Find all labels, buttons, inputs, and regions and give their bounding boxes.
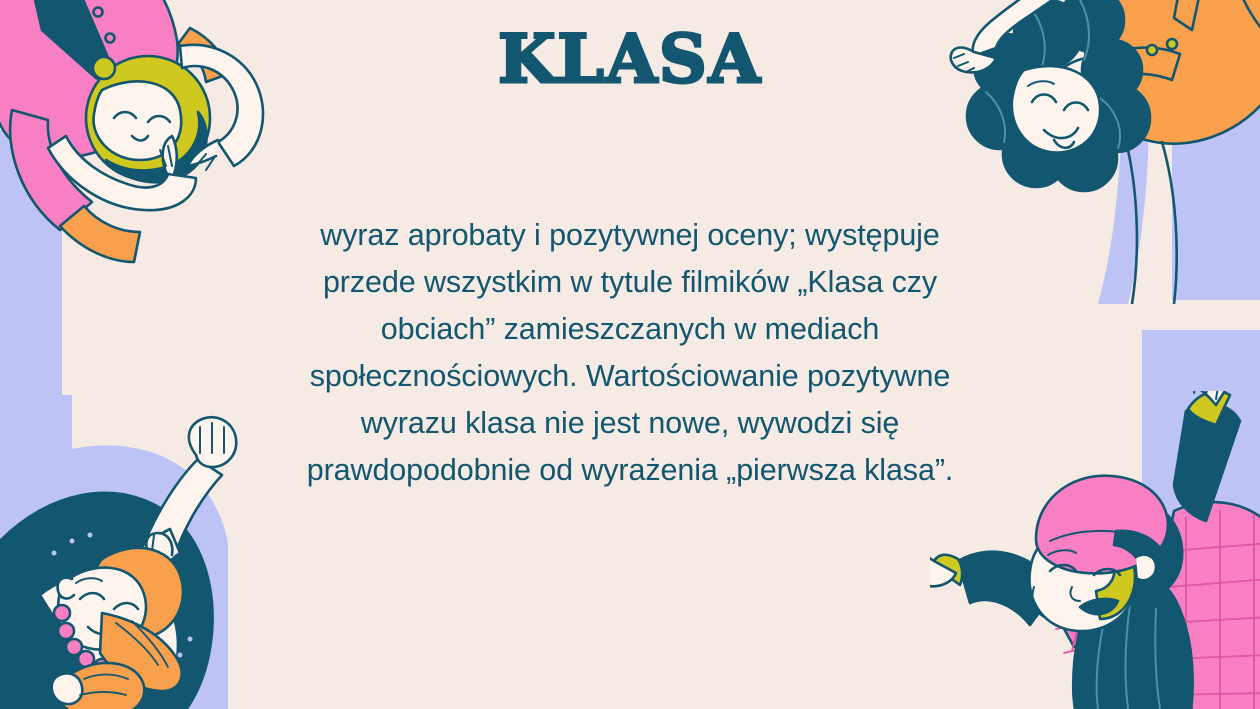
body-text-block: wyraz aprobaty i pozytywnej oceny; wystę… (212, 212, 1048, 494)
periwinkle-band-left-top (0, 130, 62, 440)
slide-canvas: KLASA wyraz aprobaty i pozytywnej oceny;… (0, 0, 1260, 709)
page-title: KLASA (498, 26, 762, 92)
body-line: wyraz aprobaty i pozytywnej oceny; wystę… (212, 212, 1048, 259)
body-line: prawdopodobnie od wyrażenia „pierwsza kl… (212, 447, 1048, 494)
body-line: wyrazu klasa nie jest nowe, wywodzi się (212, 400, 1048, 447)
body-line: przede wszystkim w tytule filmików „Klas… (212, 259, 1048, 306)
body-line: społecznościowych. Wartościowanie pozyty… (212, 353, 1048, 400)
periwinkle-band-left-bottom (0, 395, 72, 709)
body-line: obciach” zamieszczanych w mediach (212, 306, 1048, 353)
title-container: KLASA (0, 26, 1260, 92)
periwinkle-band-right-top (1172, 0, 1260, 300)
periwinkle-band-right-bottom (1142, 330, 1260, 709)
